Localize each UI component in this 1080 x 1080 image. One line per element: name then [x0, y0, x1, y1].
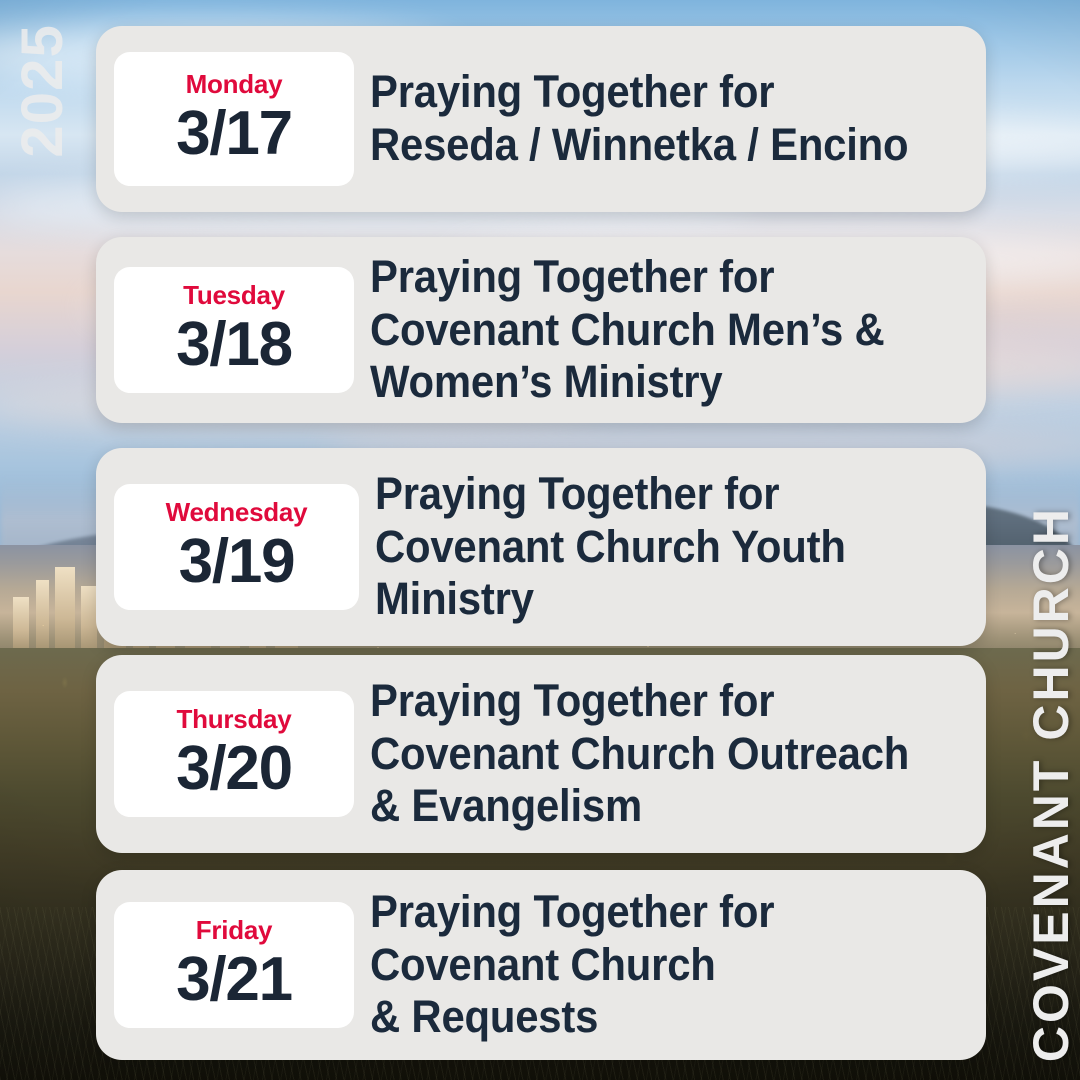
date-box: Thursday 3/20: [114, 691, 354, 817]
card-title: Praying Together for Covenant Church You…: [375, 468, 943, 626]
date-number: 3/18: [120, 312, 348, 377]
schedule-card-list: Monday 3/17 Praying Together for Reseda …: [96, 0, 986, 1080]
day-name: Monday: [120, 70, 348, 99]
schedule-card[interactable]: Thursday 3/20 Praying Together for Coven…: [96, 655, 986, 853]
date-number: 3/20: [120, 736, 348, 801]
date-box: Friday 3/21: [114, 902, 354, 1028]
day-name: Friday: [120, 916, 348, 945]
card-title: Praying Together for Covenant Church Men…: [370, 251, 943, 409]
schedule-card[interactable]: Wednesday 3/19 Praying Together for Cove…: [96, 448, 986, 646]
date-number: 3/19: [120, 529, 353, 594]
prayer-schedule-poster: 2025 COVENANT CHURCH Monday 3/17 Praying…: [0, 0, 1080, 1080]
brand-label: COVENANT CHURCH: [1026, 506, 1076, 1062]
schedule-card[interactable]: Tuesday 3/18 Praying Together for Covena…: [96, 237, 986, 423]
day-name: Thursday: [120, 705, 348, 734]
card-title: Praying Together for Covenant Church Out…: [370, 675, 943, 833]
day-name: Tuesday: [120, 281, 348, 310]
date-box: Tuesday 3/18: [114, 267, 354, 393]
date-number: 3/21: [120, 947, 348, 1012]
schedule-card[interactable]: Friday 3/21 Praying Together for Covenan…: [96, 870, 986, 1060]
date-number: 3/17: [120, 101, 348, 166]
year-label: 2025: [14, 24, 72, 158]
date-box: Wednesday 3/19: [114, 484, 359, 610]
card-title: Praying Together for Covenant Church & R…: [370, 886, 943, 1044]
schedule-card[interactable]: Monday 3/17 Praying Together for Reseda …: [96, 26, 986, 212]
card-title: Praying Together for Reseda / Winnetka /…: [370, 66, 943, 171]
day-name: Wednesday: [120, 498, 353, 527]
date-box: Monday 3/17: [114, 52, 354, 186]
